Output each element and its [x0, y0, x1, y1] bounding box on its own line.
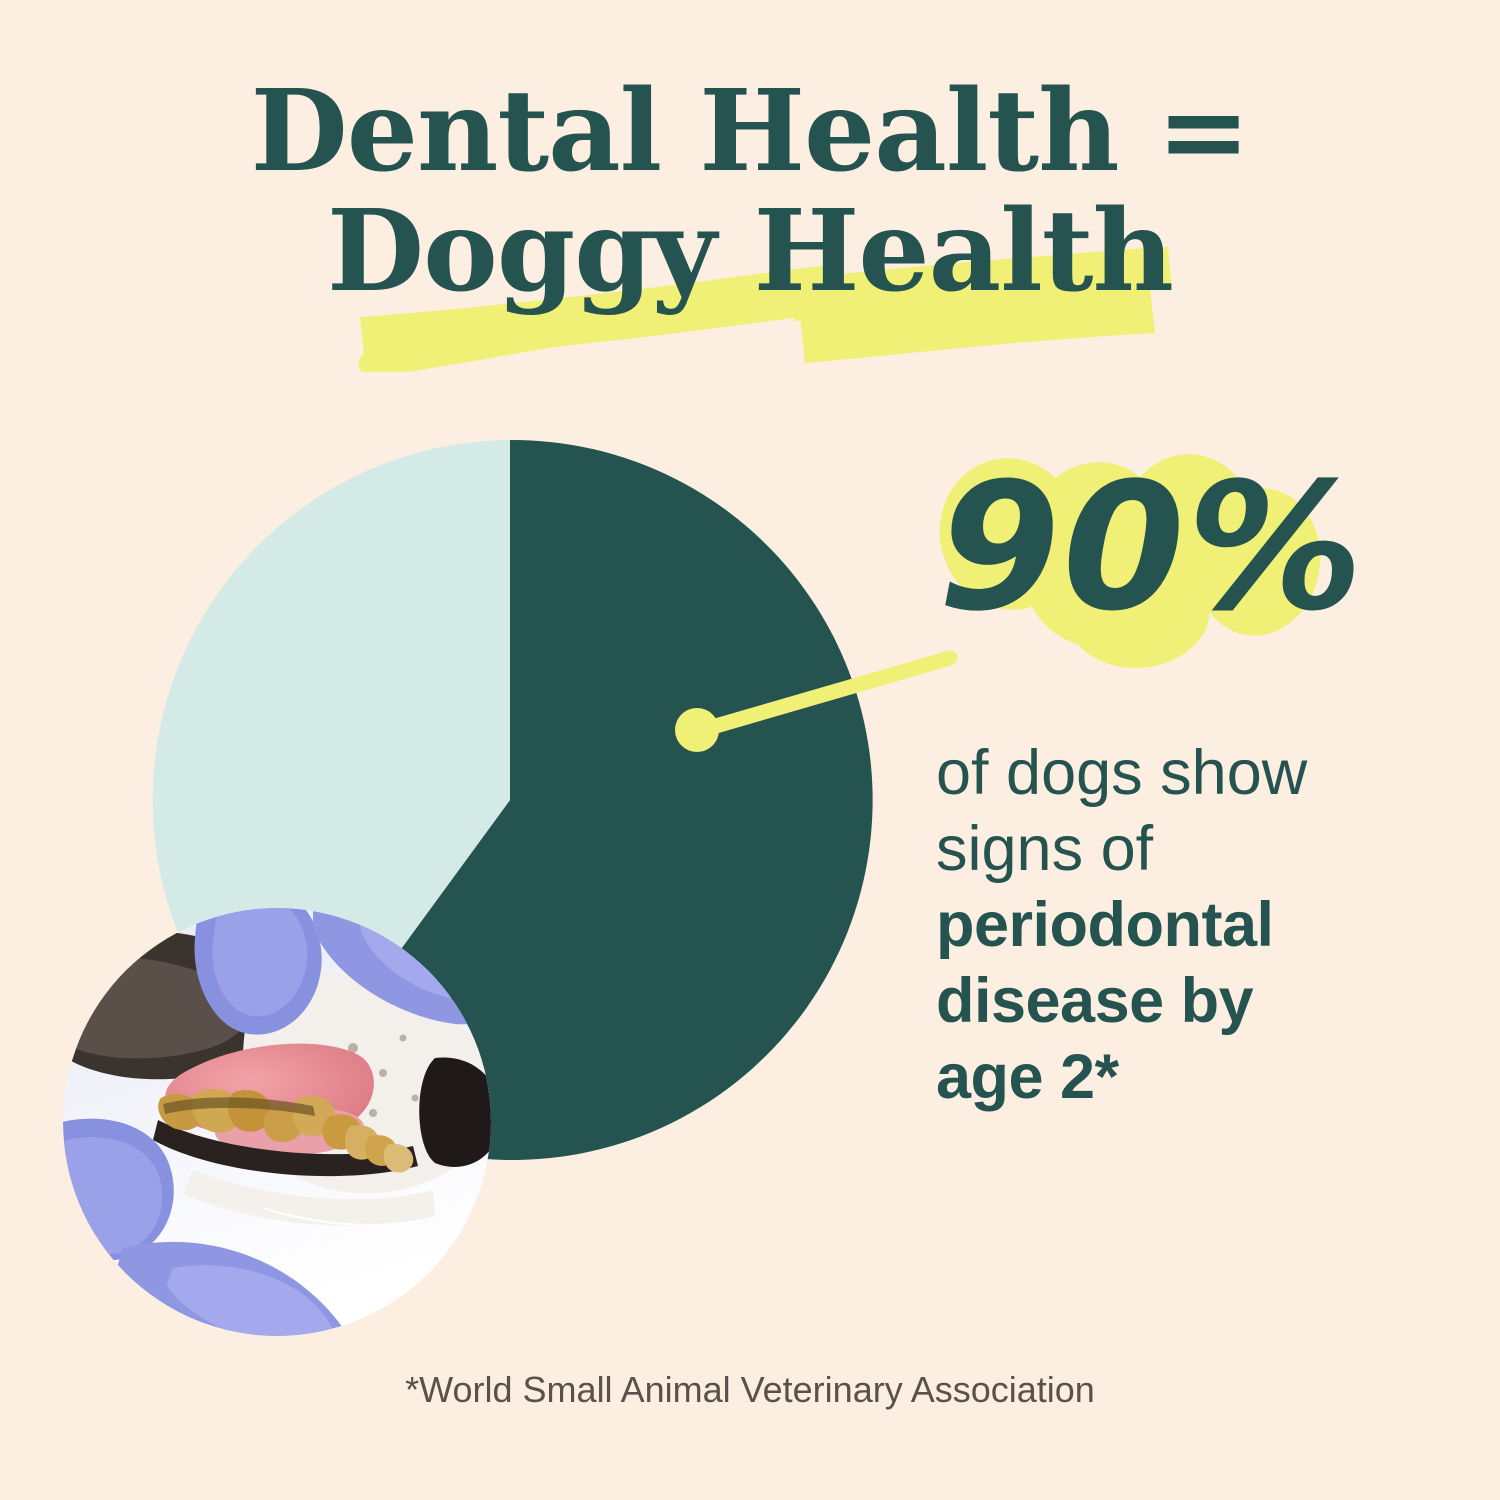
stat-description: of dogs show signs of periodontal diseas…	[936, 735, 1416, 1115]
big-number-wrap: 90%	[928, 430, 1348, 680]
stat-line-1: of dogs show	[936, 735, 1416, 811]
stat-line-5: age 2*	[936, 1039, 1416, 1115]
title-line-2: Doggy Health	[0, 192, 1500, 312]
title-line-1: Dental Health =	[0, 72, 1500, 192]
stat-line-2: signs of	[936, 811, 1416, 887]
dog-dental-exam-photo	[63, 908, 491, 1336]
stat-line-4: disease by	[936, 963, 1416, 1039]
stat-line-3: periodontal	[936, 887, 1416, 963]
stat-block: 90% of dogs show signs of periodontal di…	[928, 430, 1428, 680]
infographic-canvas: Dental Health = Doggy Health	[0, 0, 1500, 1500]
page-title: Dental Health = Doggy Health	[0, 72, 1500, 312]
big-number: 90%	[938, 448, 1365, 648]
footnote-source: *World Small Animal Veterinary Associati…	[0, 1368, 1500, 1412]
